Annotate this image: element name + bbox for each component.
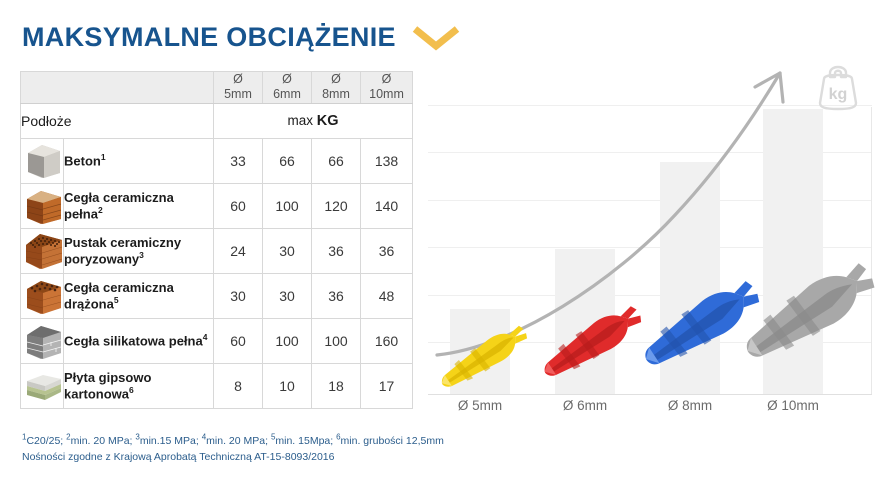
load-value-5mm: 30 [214, 273, 263, 318]
table-header-row: Ø 5mm Ø 6mm Ø 8mm Ø 10mm [21, 72, 413, 104]
material-footnote-ref: 2 [98, 205, 103, 215]
porous-ceramic-block-thumb [25, 232, 63, 270]
load-value-5mm: 60 [214, 183, 263, 228]
x-label-10mm: Ø 10mm [733, 398, 853, 413]
material-thumb-cell [21, 363, 64, 408]
chart-x-axis-labels: Ø 5mm Ø 6mm Ø 8mm Ø 10mm [425, 398, 872, 420]
load-value-5mm: 8 [214, 363, 263, 408]
load-value-6mm: 30 [263, 273, 312, 318]
load-value-6mm: 66 [263, 138, 312, 183]
wall-plug-5mm [433, 307, 543, 412]
max-kg-unit: KG [317, 113, 339, 129]
solid-clay-brick-thumb [25, 187, 63, 225]
kg-label: kg [829, 86, 848, 103]
material-name: Cegła silikatowa pełna4 [64, 318, 214, 363]
load-value-10mm: 140 [361, 183, 413, 228]
load-value-6mm: 30 [263, 228, 312, 273]
load-value-5mm: 33 [214, 138, 263, 183]
table-subheader-row: Podłoże max KG [21, 103, 413, 138]
load-value-6mm: 100 [263, 183, 312, 228]
table-row: Cegła silikatowa pełna4 60 100 100 160 [21, 318, 413, 363]
table-row: Cegła ceramiczna pełna2 60 100 120 140 [21, 183, 413, 228]
header-blank-cell [21, 72, 214, 104]
substrate-label: Podłoże [21, 103, 214, 138]
load-value-6mm: 10 [263, 363, 312, 408]
max-kg-prefix: max [287, 113, 316, 128]
load-value-8mm: 100 [312, 318, 361, 363]
material-thumb-cell [21, 318, 64, 363]
table-row: Pustak ceramiczny poryzowany3 24 30 36 3… [21, 228, 413, 273]
footnote-text: min. 20 MPa; [206, 435, 271, 447]
material-thumb-cell [21, 183, 64, 228]
material-name: Cegła ceramiczna pełna2 [64, 183, 214, 228]
load-value-8mm: 36 [312, 273, 361, 318]
table-row: Beton1 33 66 66 138 [21, 138, 413, 183]
max-kg-label: max KG [214, 103, 413, 138]
material-thumb-cell [21, 273, 64, 318]
silicate-brick-thumb [25, 322, 63, 360]
kg-weight-icon: kg [810, 57, 866, 115]
load-value-10mm: 48 [361, 273, 413, 318]
diameter-value: 5mm [214, 87, 262, 102]
footnote-text: min.15 MPa; [140, 435, 202, 447]
load-value-5mm: 60 [214, 318, 263, 363]
load-value-8mm: 120 [312, 183, 361, 228]
hollow-clay-brick-thumb [25, 277, 63, 315]
x-label-8mm: Ø 8mm [630, 398, 750, 413]
load-value-5mm: 24 [214, 228, 263, 273]
footnote-line-1: 1C20/25; 2min. 20 MPa; 3min.15 MPa; 4min… [22, 435, 444, 447]
material-name: Cegła ceramiczna drążona5 [64, 273, 214, 318]
material-name: Beton1 [64, 138, 214, 183]
material-name-text: Pustak ceramiczny poryzowany [64, 235, 181, 267]
diameter-value: 6mm [263, 87, 311, 102]
load-value-8mm: 18 [312, 363, 361, 408]
material-name-text: Cegła silikatowa pełna [64, 334, 203, 349]
x-label-6mm: Ø 6mm [525, 398, 645, 413]
x-label-5mm: Ø 5mm [420, 398, 540, 413]
diameter-symbol: Ø [214, 72, 262, 87]
diameter-symbol: Ø [361, 72, 412, 87]
diameter-symbol: Ø [312, 72, 360, 87]
gypsum-board-thumb [25, 367, 63, 405]
material-footnote-ref: 5 [114, 295, 119, 305]
table-row: Płyta gipsowo kartonowa6 8 10 18 17 [21, 363, 413, 408]
footnotes: 1C20/25; 2min. 20 MPa; 3min.15 MPa; 4min… [22, 431, 502, 465]
material-name: Płyta gipsowo kartonowa6 [64, 363, 214, 408]
footnote-text: min. grubości 12,5mm [341, 435, 444, 447]
material-name-text: Cegła ceramiczna pełna [64, 190, 174, 222]
material-name-text: Beton [64, 154, 101, 169]
diameter-value: 10mm [361, 87, 412, 102]
diameter-symbol: Ø [263, 72, 311, 87]
load-value-10mm: 160 [361, 318, 413, 363]
diameter-value: 8mm [312, 87, 360, 102]
material-name-text: Płyta gipsowo kartonowa [64, 370, 151, 402]
column-header-dia-5mm: Ø 5mm [214, 72, 263, 104]
load-value-6mm: 100 [263, 318, 312, 363]
wall-plug-10mm [740, 240, 880, 398]
footnote-text: min. 15Mpa; [275, 435, 336, 447]
column-header-dia-8mm: Ø 8mm [312, 72, 361, 104]
load-value-10mm: 138 [361, 138, 413, 183]
load-value-10mm: 36 [361, 228, 413, 273]
footnote-text: C20/25; [26, 435, 66, 447]
column-header-dia-10mm: Ø 10mm [361, 72, 413, 104]
page-header: MAKSYMALNE OBCIĄŻENIE [22, 22, 460, 53]
load-capacity-chart: kg [425, 55, 872, 395]
load-value-8mm: 36 [312, 228, 361, 273]
footnote-line-2: Nośności zgodne z Krajową Aprobatą Techn… [22, 449, 502, 465]
material-footnote-ref: 3 [139, 250, 144, 260]
page-title: MAKSYMALNE OBCIĄŻENIE [22, 22, 396, 53]
material-thumb-cell [21, 228, 64, 273]
concrete-block-thumb [25, 142, 63, 180]
material-footnote-ref: 6 [129, 385, 134, 395]
material-footnote-ref: 4 [203, 332, 208, 342]
load-value-10mm: 17 [361, 363, 413, 408]
table-row: Cegła ceramiczna drążona5 30 30 36 48 [21, 273, 413, 318]
load-value-8mm: 66 [312, 138, 361, 183]
chevron-down-icon [412, 25, 460, 51]
material-name: Pustak ceramiczny poryzowany3 [64, 228, 214, 273]
material-thumb-cell [21, 138, 64, 183]
material-footnote-ref: 1 [101, 152, 106, 162]
material-name-text: Cegła ceramiczna drążona [64, 280, 174, 312]
column-header-dia-6mm: Ø 6mm [263, 72, 312, 104]
max-load-table: Ø 5mm Ø 6mm Ø 8mm Ø 10mm Podłoże max KG [20, 71, 413, 409]
footnote-text: min. 20 MPa; [71, 435, 136, 447]
